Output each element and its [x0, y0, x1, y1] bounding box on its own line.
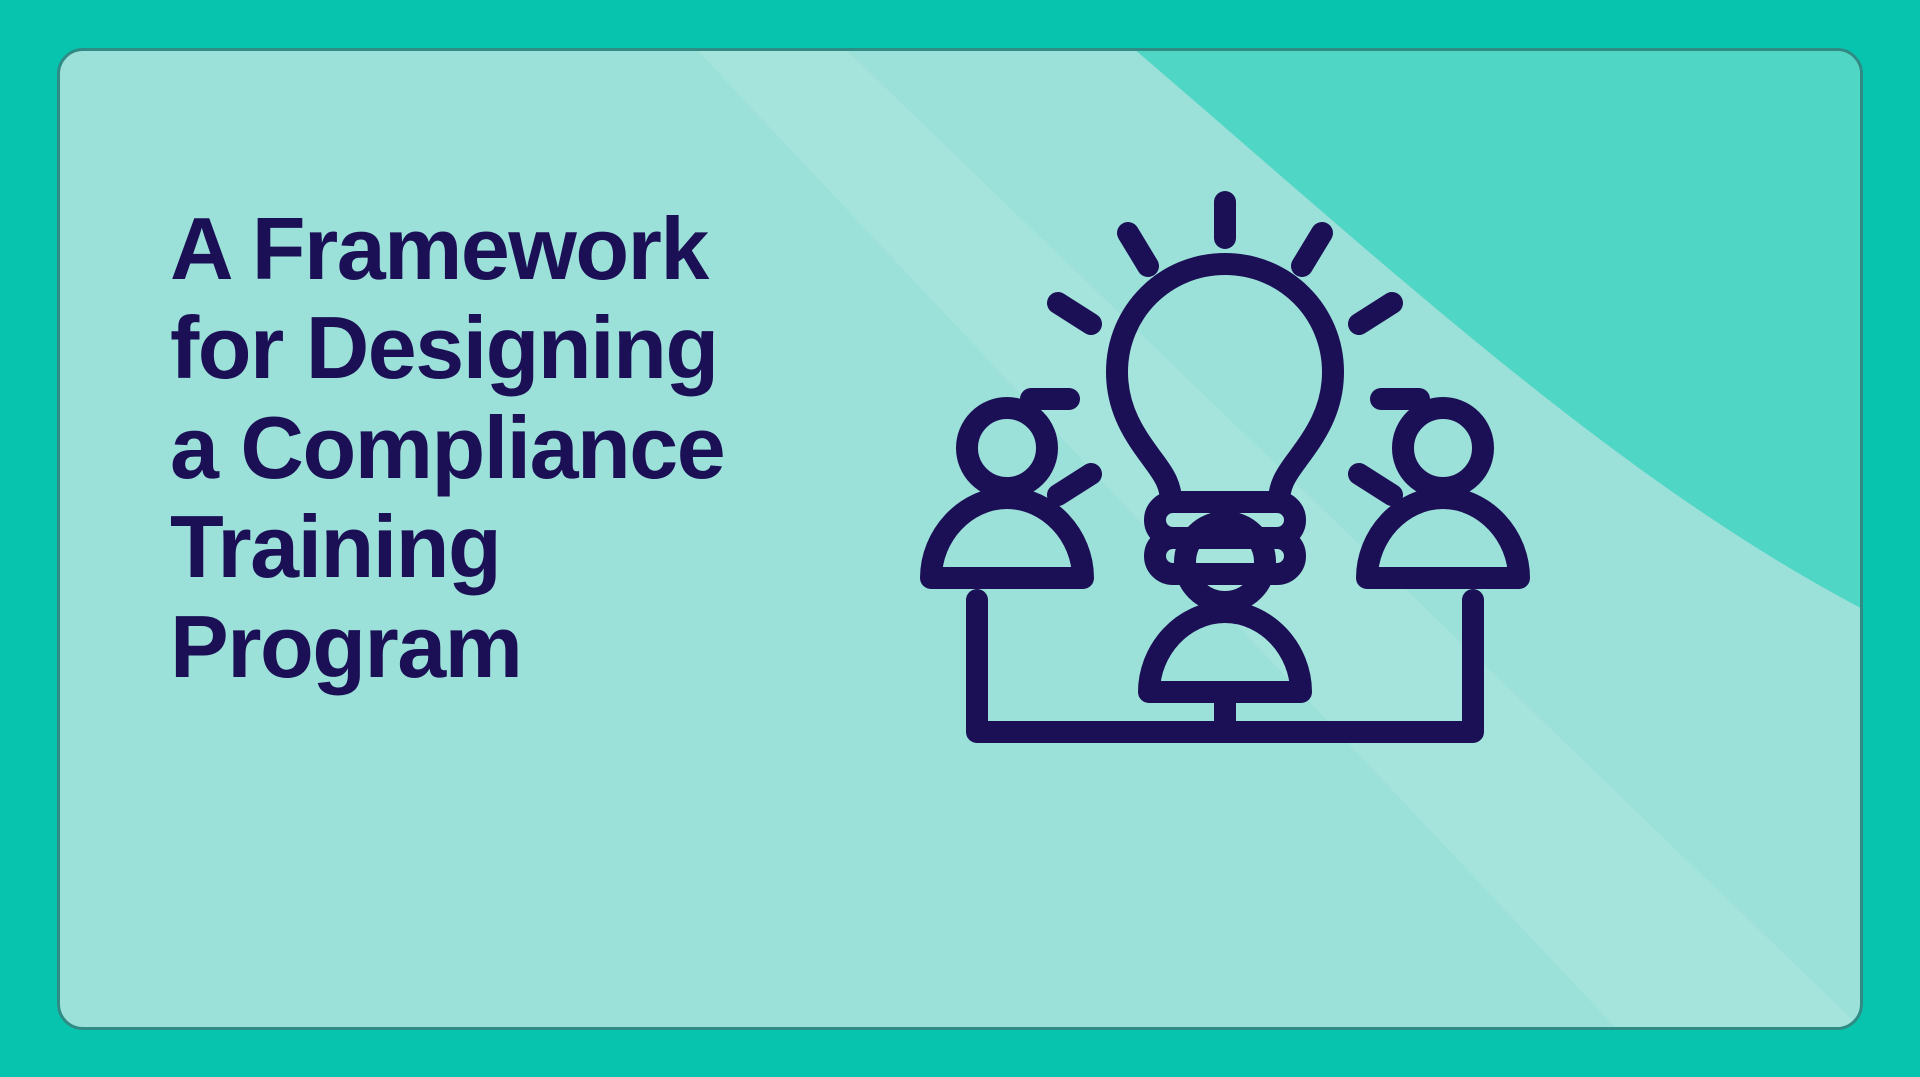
team-idea-collaboration-illustration: [915, 186, 1535, 746]
page-title: A Framework for Designing a Compliance T…: [170, 199, 970, 696]
page-canvas: A Framework for Designing a Compliance T…: [0, 0, 1920, 1077]
headline-block: A Framework for Designing a Compliance T…: [170, 199, 970, 696]
lightbulb-glass-icon: [1117, 264, 1333, 502]
lightbulb-rays-icon: [1031, 202, 1419, 495]
card-content: A Framework for Designing a Compliance T…: [60, 51, 1860, 1027]
title-card: A Framework for Designing a Compliance T…: [57, 48, 1863, 1030]
